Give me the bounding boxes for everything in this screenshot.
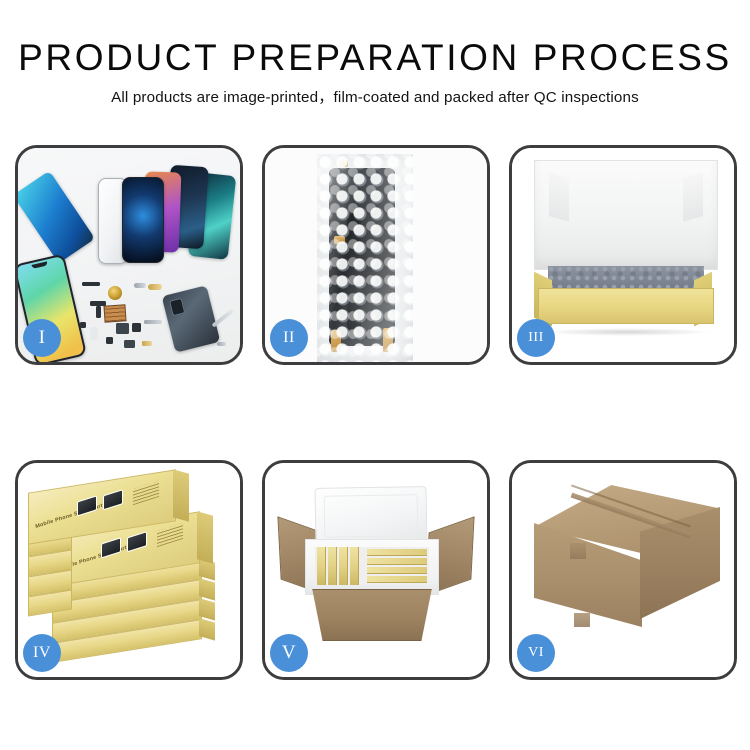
plastic-sheen bbox=[317, 154, 413, 362]
yellow-box-edge bbox=[339, 547, 348, 585]
phone-lcd-dark bbox=[122, 177, 164, 263]
step-panel-2[interactable]: II bbox=[262, 145, 490, 365]
small-part bbox=[217, 342, 226, 346]
yellow-box-flat bbox=[367, 558, 427, 565]
small-part bbox=[116, 323, 129, 334]
small-part bbox=[80, 322, 86, 328]
header: PRODUCT PREPARATION PROCESS All products… bbox=[0, 36, 750, 108]
page-subtitle: All products are image-printed，film-coat… bbox=[0, 88, 750, 108]
yellow-box-edge bbox=[328, 547, 337, 585]
step-panel-4[interactable]: Mobile Phone Spare Parts Mobile Phone Sp… bbox=[15, 460, 243, 680]
step-panel-5[interactable]: V bbox=[262, 460, 490, 680]
small-part bbox=[148, 284, 162, 290]
box-window bbox=[127, 531, 147, 552]
box-window bbox=[101, 537, 121, 558]
box-spec-lines bbox=[133, 481, 159, 505]
packed-boxes-area bbox=[315, 547, 429, 585]
bubble-wrap-bag bbox=[317, 154, 413, 362]
step-badge-4: IV bbox=[23, 634, 61, 672]
process-step-grid: I II bbox=[15, 145, 737, 680]
step-panel-1[interactable]: I bbox=[15, 145, 243, 365]
yellow-box-edge bbox=[317, 547, 326, 585]
carton-tape-patch bbox=[570, 543, 586, 559]
yellow-box-flat bbox=[367, 576, 427, 583]
step-badge-2: II bbox=[270, 319, 308, 357]
box-tray-front bbox=[538, 288, 714, 324]
small-part bbox=[106, 337, 113, 344]
box-window bbox=[77, 495, 97, 516]
small-part bbox=[90, 327, 98, 340]
foam-lid bbox=[534, 160, 718, 270]
step-badge-3: III bbox=[517, 319, 555, 357]
small-part bbox=[82, 282, 100, 286]
small-part bbox=[134, 283, 146, 288]
small-part bbox=[124, 340, 135, 348]
small-part bbox=[144, 320, 162, 324]
gold-coil-part bbox=[108, 286, 122, 300]
small-part bbox=[96, 306, 101, 318]
carton-body bbox=[307, 589, 437, 641]
step-badge-6: VI bbox=[517, 634, 555, 672]
step-badge-5: V bbox=[270, 634, 308, 672]
box-spec-lines bbox=[157, 523, 183, 547]
product-preparation-infographic: PRODUCT PREPARATION PROCESS All products… bbox=[0, 0, 750, 750]
lid-flap-left bbox=[549, 172, 569, 222]
yellow-box-flat bbox=[367, 567, 427, 574]
step-panel-3[interactable]: III bbox=[509, 145, 737, 365]
step-panel-6[interactable]: VI bbox=[509, 460, 737, 680]
lid-flap-right bbox=[683, 172, 703, 222]
yellow-box-edge bbox=[350, 547, 359, 585]
small-part bbox=[142, 341, 152, 346]
page-title: PRODUCT PREPARATION PROCESS bbox=[0, 36, 750, 80]
drop-shadow bbox=[542, 328, 712, 336]
foam-lid-open bbox=[315, 486, 428, 546]
carton-tape-patch bbox=[574, 613, 590, 627]
small-part bbox=[132, 323, 141, 332]
box-window bbox=[103, 489, 123, 510]
step-badge-1: I bbox=[23, 319, 61, 357]
chip-array-part bbox=[103, 304, 126, 322]
yellow-box-flat bbox=[367, 549, 427, 556]
